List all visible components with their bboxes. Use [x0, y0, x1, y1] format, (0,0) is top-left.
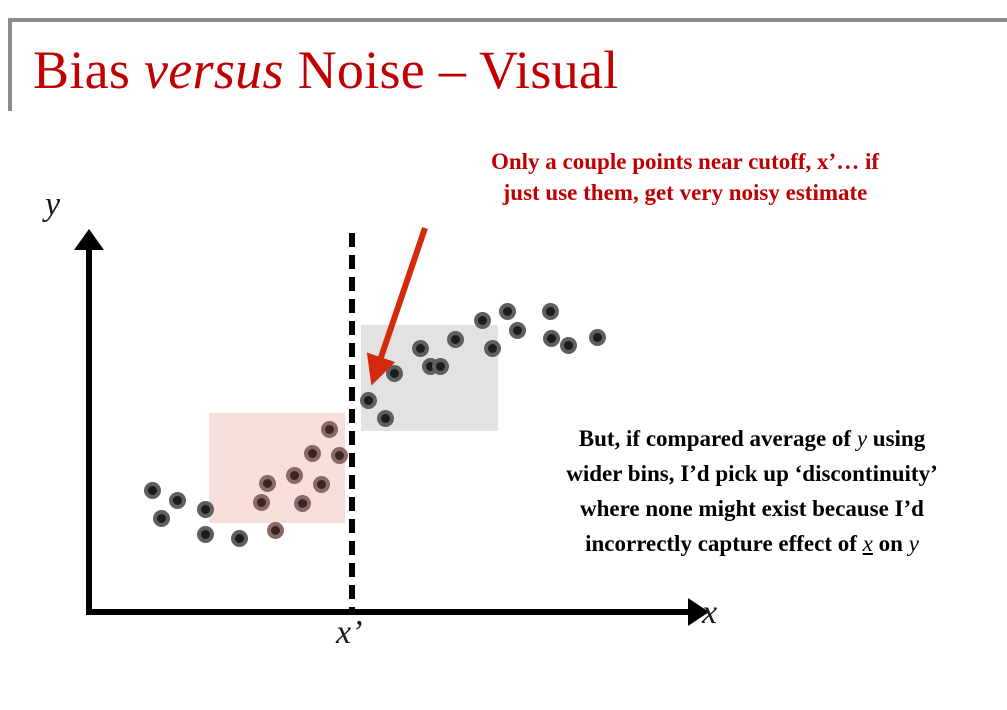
- cutoff-label: x’: [336, 614, 362, 652]
- scatter-point: [474, 312, 491, 329]
- body-var-y-1: y: [857, 426, 867, 451]
- scatter-point: [560, 337, 577, 354]
- scatter-point: [313, 476, 330, 493]
- scatter-point: [259, 475, 276, 492]
- scatter-point: [360, 392, 377, 409]
- body-line-1-a: But, if compared average of: [579, 426, 857, 451]
- body-var-y-2: y: [909, 531, 919, 556]
- cutoff-dashed-line: [349, 233, 355, 612]
- body-line-1: But, if compared average of y using: [497, 421, 1007, 456]
- red-annotation-arrow-icon: [0, 0, 1007, 710]
- scatter-point: [304, 445, 321, 462]
- scatter-point: [197, 526, 214, 543]
- scatter-point: [377, 410, 394, 427]
- scatter-point: [412, 340, 429, 357]
- scatter-point: [169, 492, 186, 509]
- body-line-4: incorrectly capture effect of x on y: [497, 526, 1007, 561]
- scatter-point: [543, 330, 560, 347]
- body-line-2: wider bins, I’d pick up ‘discontinuity’: [497, 456, 1007, 491]
- scatter-point: [447, 331, 464, 348]
- scatter-point: [331, 447, 348, 464]
- y-axis-arrow-icon: [74, 229, 104, 250]
- black-body-text: But, if compared average of y using wide…: [497, 421, 1007, 561]
- x-axis-line: [86, 609, 690, 615]
- scatter-point: [144, 482, 161, 499]
- scatter-point: [589, 329, 606, 346]
- scatter-point: [432, 358, 449, 375]
- scatter-point: [253, 494, 270, 511]
- scatter-point: [294, 495, 311, 512]
- scatter-point: [197, 501, 214, 518]
- body-line-4-b: on: [873, 531, 909, 556]
- scatter-point: [153, 510, 170, 527]
- y-axis-label: y: [45, 186, 60, 224]
- scatter-point: [484, 340, 501, 357]
- y-axis-line: [86, 246, 92, 615]
- body-var-x: x: [863, 531, 873, 556]
- scatter-point: [267, 522, 284, 539]
- scatter-point: [386, 365, 403, 382]
- body-line-4-a: incorrectly capture effect of: [585, 531, 863, 556]
- x-axis-label: x: [702, 594, 717, 632]
- scatter-plot: y x x’: [0, 0, 1007, 710]
- body-line-3: where none might exist because I’d: [497, 491, 1007, 526]
- scatter-point: [499, 303, 516, 320]
- scatter-point: [321, 421, 338, 438]
- body-line-1-b: using: [867, 426, 925, 451]
- scatter-point: [231, 530, 248, 547]
- scatter-point: [509, 322, 526, 339]
- slide-canvas: Bias versus Noise – Visual Only a couple…: [0, 0, 1007, 710]
- scatter-point: [542, 303, 559, 320]
- scatter-point: [286, 467, 303, 484]
